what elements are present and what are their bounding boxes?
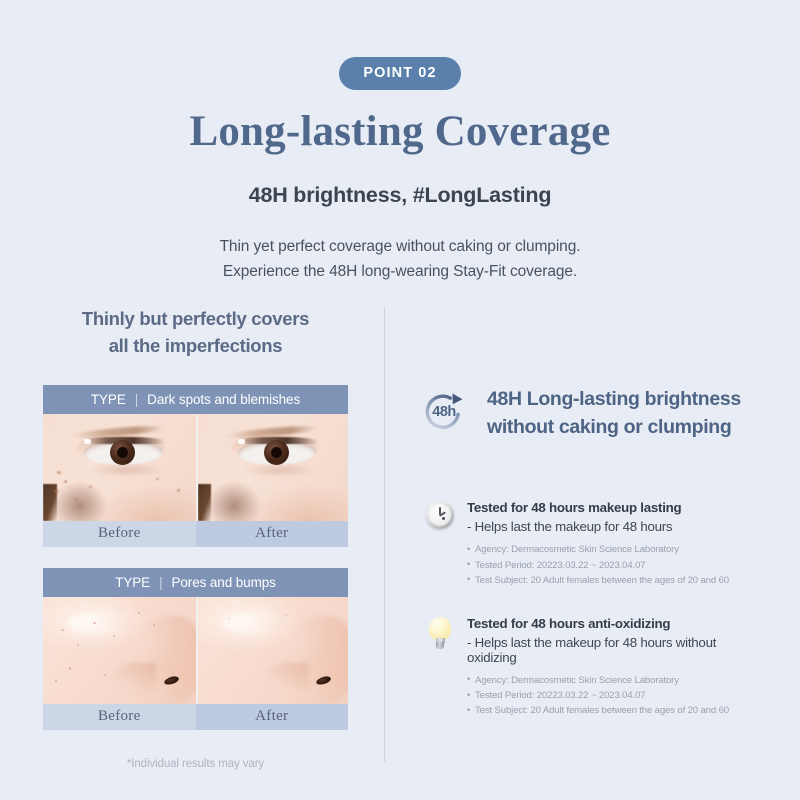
pore-mark [55, 680, 57, 682]
blemish-spot [177, 489, 180, 492]
blemish-spot [54, 490, 59, 493]
type-value: Dark spots and blemishes [147, 392, 300, 407]
card-caption-row: Before After [43, 704, 348, 730]
test-notes-list: Agency: Dermacosmetic Skin Science Labor… [467, 673, 766, 718]
page-subtitle: 48H brightness, #LongLasting [0, 183, 800, 208]
eye-pupil [271, 447, 282, 458]
test-result-makeup-lasting: Tested for 48 hours makeup lasting - Hel… [421, 499, 766, 587]
test-notes-list: Agency: Dermacosmetic Skin Science Labor… [467, 542, 729, 587]
test-note: Agency: Dermacosmetic Skin Science Labor… [467, 673, 766, 688]
bulb-base [436, 642, 444, 649]
blemish-spot [57, 471, 61, 474]
test-result-anti-oxidizing: Tested for 48 hours anti-oxidizing - Hel… [421, 615, 766, 718]
comparison-card-pores: TYPE | Pores and bumps [43, 568, 348, 730]
blemish-spot [74, 498, 77, 500]
after-caption: After [196, 521, 349, 547]
section-heading-line-2: all the imperfections [43, 333, 348, 360]
badge-48h-label: 48h [432, 404, 456, 420]
test-title: Tested for 48 hours makeup lasting [467, 500, 729, 515]
nose-crease [113, 663, 156, 695]
column-divider [384, 307, 385, 762]
page-title: Long-lasting Coverage [0, 107, 800, 156]
under-eye-shadow [243, 463, 315, 477]
skin-highlight [67, 612, 143, 636]
eye-iris [264, 440, 289, 465]
type-label: TYPE [91, 392, 126, 407]
blemish-spot [89, 486, 92, 488]
card-caption-row: Before After [43, 521, 348, 547]
claim-line-1: 48H Long-lasting brightness [487, 386, 741, 414]
eye-closeup-before-photo [43, 414, 196, 521]
pore-mark [113, 635, 115, 637]
type-separator: | [159, 575, 162, 590]
test-text-group: Tested for 48 hours anti-oxidizing - Hel… [467, 615, 766, 718]
card-photo-row [43, 414, 348, 521]
point-badge: POINT 02 [339, 57, 460, 90]
test-text-group: Tested for 48 hours makeup lasting - Hel… [467, 499, 729, 587]
type-value: Pores and bumps [171, 575, 275, 590]
test-note: Agency: Dermacosmetic Skin Science Labor… [467, 542, 729, 557]
before-caption: Before [43, 704, 196, 730]
page-header: POINT 02 Long-lasting Coverage 48H brigh… [0, 0, 800, 284]
eye-highlight [84, 439, 91, 444]
pore-mark [61, 629, 64, 632]
nose-closeup-after-photo [196, 597, 349, 704]
blemish-spot [156, 478, 159, 480]
test-note: Test Subject: 20 Adult females between t… [467, 573, 729, 588]
test-title: Tested for 48 hours anti-oxidizing [467, 616, 766, 631]
test-subtitle: - Helps last the makeup for 48 hours [467, 519, 729, 534]
card-type-bar: TYPE | Dark spots and blemishes [43, 385, 348, 414]
main-claim-text: 48H Long-lasting brightness without caki… [487, 385, 741, 441]
section-heading: Thinly but perfectly covers all the impe… [43, 306, 348, 360]
nose-crease [267, 663, 309, 695]
pore-mark [77, 644, 79, 646]
clock-face [429, 504, 451, 526]
eye-closeup-after-photo [196, 414, 349, 521]
test-note: Tested Period: 20223.03.22 ~ 2023.04.07 [467, 688, 766, 703]
pore-mark [138, 612, 141, 614]
lightbulb-icon [421, 615, 459, 651]
circular-arrow-48h-icon: 48h [421, 389, 467, 435]
section-heading-line-1: Thinly but perfectly covers [43, 306, 348, 333]
test-note: Test Subject: 20 Adult females between t… [467, 703, 766, 718]
page-description: Thin yet perfect coverage without caking… [0, 234, 800, 284]
claims-section: 48h 48H Long-lasting brightness without … [421, 385, 766, 718]
type-separator: | [135, 392, 138, 407]
description-line-1: Thin yet perfect coverage without caking… [0, 234, 800, 259]
card-photo-row [43, 597, 348, 704]
description-line-2: Experience the 48H long-wearing Stay-Fit… [0, 259, 800, 284]
before-after-section: Thinly but perfectly covers all the impe… [43, 306, 348, 770]
main-claim: 48h 48H Long-lasting brightness without … [421, 385, 766, 441]
disclaimer-footnote: *Individual results may vary [43, 758, 348, 770]
test-subtitle: - Helps last the makeup for 48 hours wit… [467, 635, 766, 665]
clock-icon [421, 499, 459, 529]
clock-hour-hand [440, 511, 446, 516]
eye-pupil [117, 447, 128, 458]
after-caption: After [196, 704, 349, 730]
pore-mark [104, 674, 106, 676]
before-caption: Before [43, 521, 196, 547]
blemish-spot [64, 480, 67, 483]
pore-mark [69, 667, 72, 670]
card-type-bar: TYPE | Pores and bumps [43, 568, 348, 597]
eye-highlight [238, 439, 245, 444]
claim-line-2: without caking or clumping [487, 414, 741, 442]
hair-edge [198, 484, 212, 520]
pore-mark [285, 614, 287, 616]
under-eye-shadow [89, 463, 162, 477]
test-note: Tested Period: 20223.03.22 ~ 2023.04.07 [467, 558, 729, 573]
nose-closeup-before-photo [43, 597, 196, 704]
comparison-card-dark-spots: TYPE | Dark spots and blemishes [43, 385, 348, 547]
type-label: TYPE [115, 575, 150, 590]
clock-center-pin [442, 517, 445, 520]
pore-mark [228, 618, 230, 620]
